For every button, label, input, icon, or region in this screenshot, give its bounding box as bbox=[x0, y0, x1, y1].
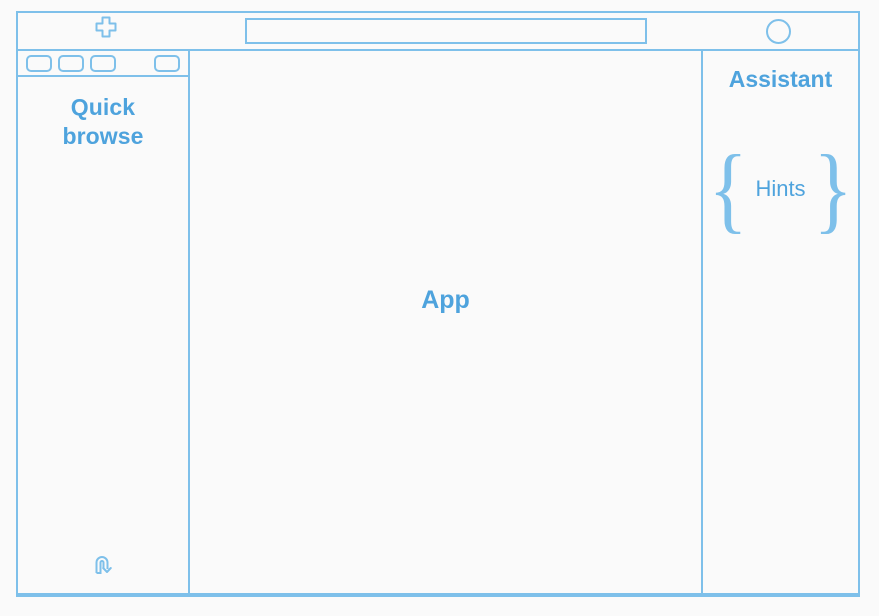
assistant-title: Assistant bbox=[729, 66, 833, 93]
quick-browse-title: Quick browse bbox=[18, 93, 188, 152]
sidebar-new-tab-button[interactable] bbox=[154, 55, 180, 72]
sidebar-tab-bar bbox=[18, 51, 188, 77]
close-brace-icon: } bbox=[813, 143, 852, 234]
sidebar-footer bbox=[18, 550, 188, 585]
open-brace-icon: { bbox=[709, 143, 748, 234]
topbar-center-zone bbox=[193, 13, 698, 49]
sidebar-tab-2[interactable] bbox=[58, 55, 84, 72]
search-input[interactable] bbox=[245, 18, 647, 44]
topbar-left-zone bbox=[18, 13, 193, 49]
topbar-right-zone bbox=[698, 13, 858, 49]
app-title: App bbox=[421, 286, 470, 315]
sidebar-tab-3[interactable] bbox=[90, 55, 116, 72]
app-panel[interactable]: App bbox=[190, 51, 703, 593]
window-body: Quick browse App Assistant { H bbox=[18, 51, 858, 593]
avatar-circle-icon[interactable] bbox=[766, 19, 791, 44]
sidebar-tab-1[interactable] bbox=[26, 55, 52, 72]
assistant-panel: Assistant { Hints } bbox=[703, 51, 858, 593]
plus-icon[interactable] bbox=[92, 15, 120, 48]
hints-label: Hints bbox=[753, 176, 807, 202]
top-bar bbox=[18, 13, 858, 51]
hints-block: { Hints } bbox=[705, 143, 855, 234]
sidebar-content: Quick browse bbox=[18, 77, 188, 593]
sidebar: Quick browse bbox=[18, 51, 190, 593]
u-turn-arrow-icon[interactable] bbox=[88, 550, 118, 585]
wireframe-window: Quick browse App Assistant { H bbox=[16, 11, 860, 597]
